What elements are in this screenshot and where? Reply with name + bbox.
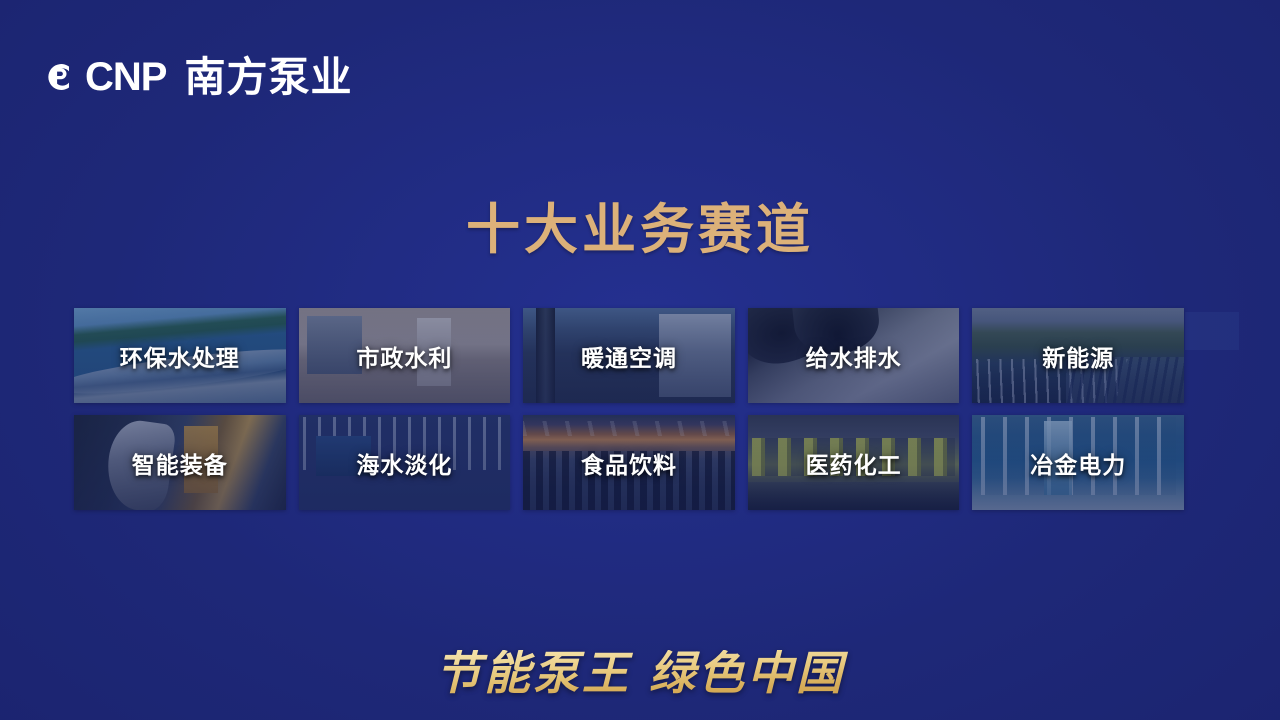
sector-card-label: 环保水处理 bbox=[74, 308, 286, 403]
sector-card[interactable]: 环保水处理 bbox=[74, 308, 286, 403]
sector-card[interactable]: 智能装备 bbox=[74, 415, 286, 510]
logo-chinese-name: 南方泵业 bbox=[184, 57, 352, 98]
sector-card[interactable]: 新能源 bbox=[972, 308, 1184, 403]
sector-card[interactable]: 医药化工 bbox=[748, 415, 960, 510]
company-logo: CNP 南方泵业 bbox=[42, 52, 352, 102]
sector-card-label: 医药化工 bbox=[748, 415, 960, 510]
sector-card[interactable]: 给水排水 bbox=[748, 308, 960, 403]
background-artifact bbox=[1185, 312, 1239, 350]
slide-root: CNP 南方泵业 十大业务赛道 环保水处理 市政水利 暖通空调 给水排水 bbox=[0, 0, 1280, 720]
sector-card[interactable]: 暖通空调 bbox=[523, 308, 735, 403]
sector-card-label: 冶金电力 bbox=[972, 415, 1184, 510]
brand-slogan: 节能泵王绿色中国 bbox=[0, 650, 1280, 696]
business-sector-grid: 环保水处理 市政水利 暖通空调 给水排水 新能源 智能装备 bbox=[74, 308, 1184, 510]
sector-card-label: 给水排水 bbox=[748, 308, 960, 403]
sector-card-label: 市政水利 bbox=[299, 308, 511, 403]
logo-wordmark: CNP bbox=[85, 57, 166, 97]
cnp-circular-p-logo-icon bbox=[42, 60, 76, 94]
slogan-part-one: 节能泵王 bbox=[435, 646, 631, 700]
sector-card[interactable]: 市政水利 bbox=[299, 308, 511, 403]
slogan-part-two: 绿色中国 bbox=[649, 646, 845, 700]
sector-card-label: 海水淡化 bbox=[299, 415, 511, 510]
sector-card-label: 食品饮料 bbox=[523, 415, 735, 510]
page-title: 十大业务赛道 bbox=[0, 203, 1280, 257]
sector-card-label: 智能装备 bbox=[74, 415, 286, 510]
sector-card[interactable]: 冶金电力 bbox=[972, 415, 1184, 510]
sector-card[interactable]: 海水淡化 bbox=[299, 415, 511, 510]
sector-card[interactable]: 食品饮料 bbox=[523, 415, 735, 510]
sector-card-label: 新能源 bbox=[972, 308, 1184, 403]
sector-card-label: 暖通空调 bbox=[523, 308, 735, 403]
